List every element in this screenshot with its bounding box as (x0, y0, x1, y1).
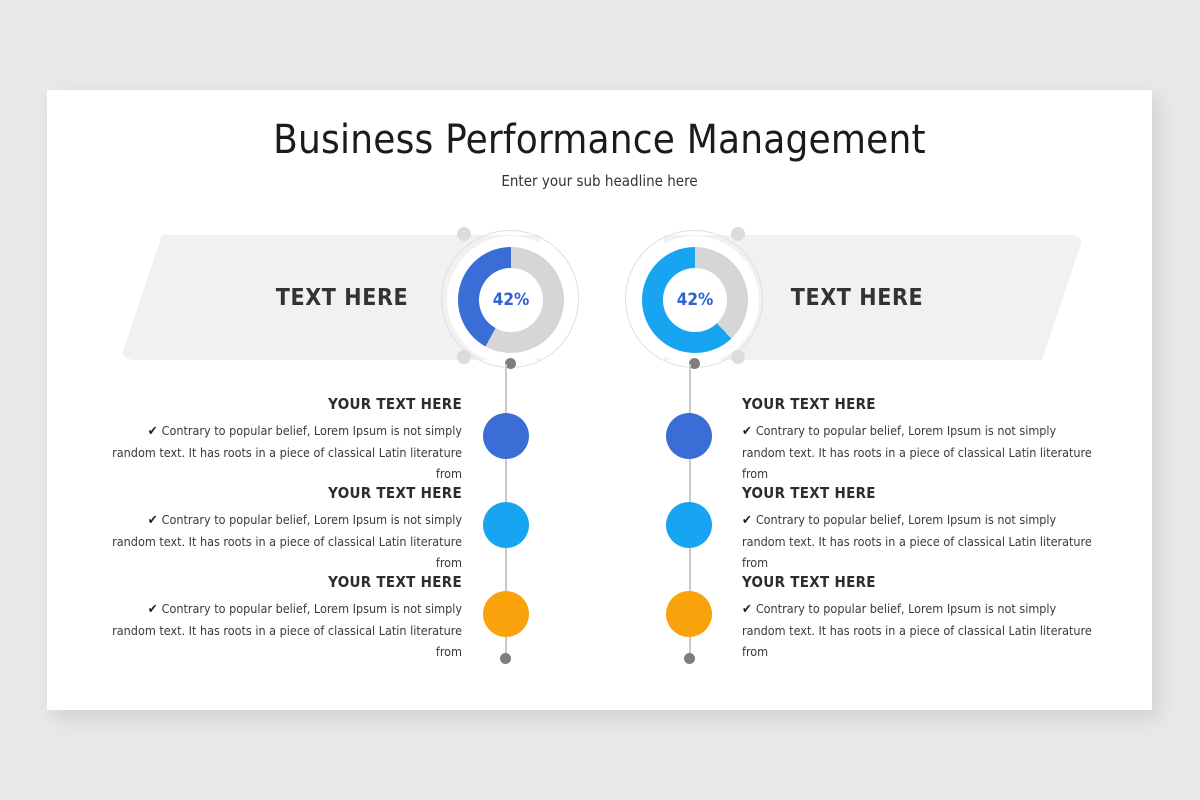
item-right-3[interactable]: YOUR TEXT HERE ✔Contrary to popular beli… (742, 573, 1102, 662)
bubble-right-3[interactable] (666, 591, 712, 637)
item-left-3-text: Contrary to popular belief, Lorem Ipsum … (112, 601, 462, 659)
item-left-1[interactable]: YOUR TEXT HERE ✔Contrary to popular beli… (102, 395, 462, 484)
check-icon: ✔ (148, 424, 158, 439)
bubble-right-1[interactable] (666, 413, 712, 459)
banner-row: TEXT HERE TEXT HERE (47, 235, 1152, 360)
check-icon: ✔ (742, 513, 752, 528)
item-left-2[interactable]: YOUR TEXT HERE ✔Contrary to popular beli… (102, 484, 462, 573)
item-right-1-heading: YOUR TEXT HERE (742, 395, 1102, 413)
donut-chart-left[interactable]: 42% (441, 230, 581, 370)
banner-right-label: TEXT HERE (791, 285, 923, 311)
item-right-1-body: ✔Contrary to popular belief, Lorem Ipsum… (742, 420, 1102, 484)
check-icon: ✔ (742, 424, 752, 439)
check-icon: ✔ (742, 602, 752, 617)
bubble-left-3[interactable] (483, 591, 529, 637)
donut-left-deco-dot-bottom (457, 350, 471, 364)
check-icon: ✔ (148, 602, 158, 617)
banner-left-label: TEXT HERE (276, 285, 408, 311)
page-title: Business Performance Management (47, 117, 1152, 163)
donut-chart-right[interactable]: 42% (625, 230, 765, 370)
item-right-2-body: ✔Contrary to popular belief, Lorem Ipsum… (742, 509, 1102, 573)
donut-right-deco-dot-bottom (731, 350, 745, 364)
item-left-1-body: ✔Contrary to popular belief, Lorem Ipsum… (102, 420, 462, 484)
rail-end-dot-left (500, 653, 511, 664)
donut-right-center: 42% (663, 268, 727, 332)
item-left-2-text: Contrary to popular belief, Lorem Ipsum … (112, 512, 462, 570)
donut-right-deco-dot-top (731, 227, 745, 241)
bubble-left-1[interactable] (483, 413, 529, 459)
item-left-3-heading: YOUR TEXT HERE (102, 573, 462, 591)
item-left-2-body: ✔Contrary to popular belief, Lorem Ipsum… (102, 509, 462, 573)
item-right-2-text: Contrary to popular belief, Lorem Ipsum … (742, 512, 1092, 570)
item-right-1[interactable]: YOUR TEXT HERE ✔Contrary to popular beli… (742, 395, 1102, 484)
item-right-2-heading: YOUR TEXT HERE (742, 484, 1102, 502)
bubble-left-2[interactable] (483, 502, 529, 548)
item-right-3-body: ✔Contrary to popular belief, Lorem Ipsum… (742, 598, 1102, 662)
donut-left-deco-dot-top (457, 227, 471, 241)
item-left-1-text: Contrary to popular belief, Lorem Ipsum … (112, 423, 462, 481)
bubble-right-2[interactable] (666, 502, 712, 548)
check-icon: ✔ (148, 513, 158, 528)
item-right-3-heading: YOUR TEXT HERE (742, 573, 1102, 591)
item-right-3-text: Contrary to popular belief, Lorem Ipsum … (742, 601, 1092, 659)
donut-left-percent-label: 42% (493, 290, 530, 310)
item-left-3-body: ✔Contrary to popular belief, Lorem Ipsum… (102, 598, 462, 662)
rail-end-dot-right (684, 653, 695, 664)
item-right-2[interactable]: YOUR TEXT HERE ✔Contrary to popular beli… (742, 484, 1102, 573)
slide-card: Business Performance Management Enter yo… (47, 90, 1152, 710)
donut-left-center: 42% (479, 268, 543, 332)
page-subtitle: Enter your sub headline here (47, 172, 1152, 190)
donut-right-percent-label: 42% (677, 290, 714, 310)
item-right-1-text: Contrary to popular belief, Lorem Ipsum … (742, 423, 1092, 481)
item-left-2-heading: YOUR TEXT HERE (102, 484, 462, 502)
item-left-1-heading: YOUR TEXT HERE (102, 395, 462, 413)
item-left-3[interactable]: YOUR TEXT HERE ✔Contrary to popular beli… (102, 573, 462, 662)
